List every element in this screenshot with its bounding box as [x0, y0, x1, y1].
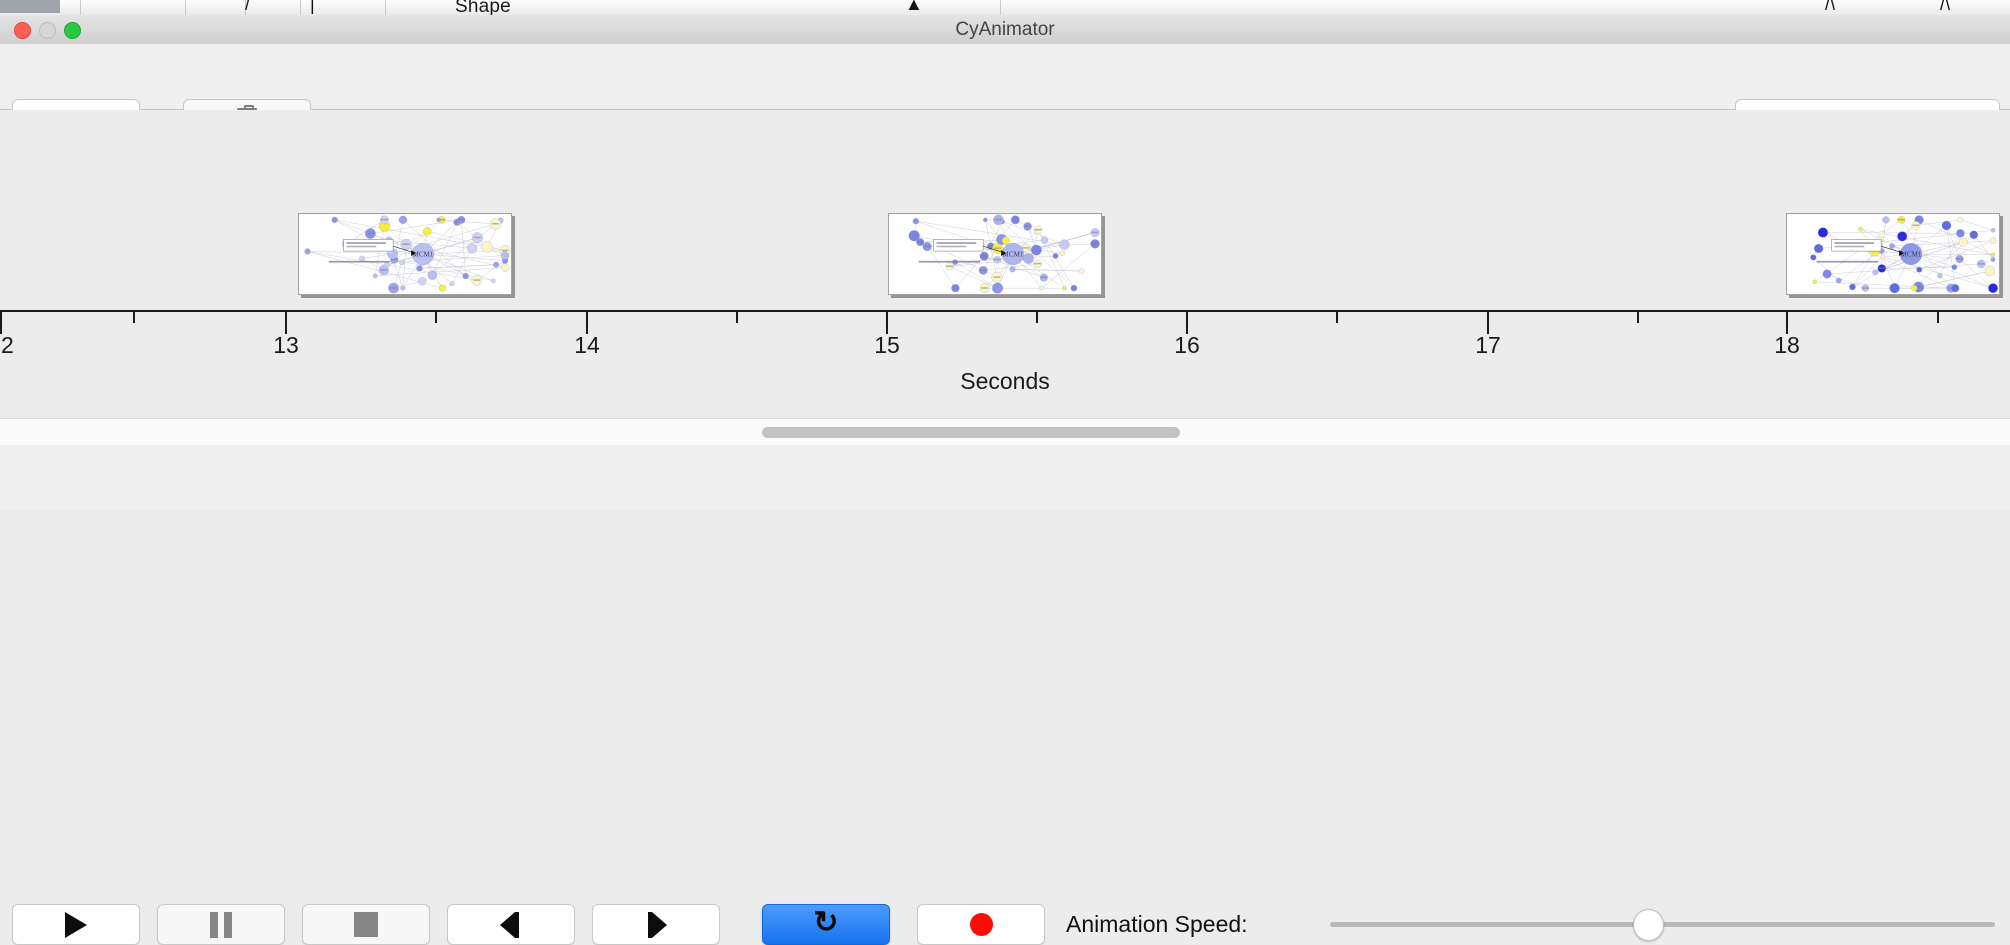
divider: [300, 0, 301, 15]
timeline-content: Seconds 12131415161718MCM1MCM1MCM1: [0, 110, 2010, 418]
title-bar: CyAnimator: [0, 15, 2010, 45]
timeline-axis-title: Seconds: [0, 368, 2010, 395]
timeline-frame-thumbnail[interactable]: MCM1: [1786, 213, 2000, 295]
record-button[interactable]: [917, 904, 1045, 945]
skip-to-start-icon: [498, 912, 524, 938]
playback-control-bar: ↻ Animation Speed:: [0, 445, 2010, 510]
axis-tick-15.5: [1036, 312, 1038, 323]
partial-glyph: /\: [1825, 0, 1835, 15]
axis-tick-12: [0, 312, 2, 334]
divider: [185, 0, 186, 15]
axis-tick-16: [1186, 312, 1188, 334]
axis-tick-label-13: 13: [273, 332, 299, 359]
axis-tick-label-17: 17: [1475, 332, 1501, 359]
skip-to-start-button[interactable]: [447, 904, 575, 945]
stop-button[interactable]: [302, 904, 430, 945]
axis-tick-18: [1786, 312, 1788, 334]
divider: [80, 0, 81, 15]
axis-tick-14.5: [736, 312, 738, 323]
svg-text:MCM1: MCM1: [413, 251, 434, 259]
timeline-frame-thumbnail[interactable]: MCM1: [298, 213, 512, 295]
axis-tick-label-15: 15: [874, 332, 900, 359]
axis-tick-12.5: [133, 312, 135, 323]
axis-tick-14: [586, 312, 588, 334]
play-button[interactable]: [12, 904, 140, 945]
partial-glyph: /: [245, 0, 250, 15]
partial-glyph: /\: [1940, 0, 1950, 15]
partial-glyph: ▲: [905, 0, 923, 15]
svg-text:MCM1: MCM1: [1901, 251, 1922, 259]
partial-glyph: |: [310, 0, 315, 15]
divider: [385, 0, 386, 15]
axis-tick-17: [1487, 312, 1489, 334]
axis-tick-label-16: 16: [1174, 332, 1200, 359]
axis-tick-13.5: [435, 312, 437, 323]
divider: [1000, 0, 1001, 15]
skip-to-end-button[interactable]: [592, 904, 720, 945]
axis-tick-16.5: [1336, 312, 1338, 323]
axis-tick-18.5: [1937, 312, 1939, 323]
timeline-scrollbar[interactable]: [0, 418, 2010, 447]
background-window-strip: / | ▲ Shape /\ /\: [0, 0, 2010, 16]
axis-tick-13: [285, 312, 287, 334]
stop-icon: [354, 912, 378, 937]
axis-tick-17.5: [1637, 312, 1639, 323]
skip-to-end-icon: [643, 912, 669, 938]
timeline-panel[interactable]: Seconds 12131415161718MCM1MCM1MCM1: [0, 110, 2010, 418]
toolbar: + Clear All Frames: [0, 44, 2010, 110]
axis-tick-15: [886, 312, 888, 334]
timeline-frame-thumbnail[interactable]: MCM1: [888, 213, 1102, 295]
pause-icon: [210, 912, 232, 938]
window-title: CyAnimator: [0, 15, 2010, 44]
loop-button[interactable]: ↻: [762, 904, 890, 945]
axis-tick-label-14: 14: [574, 332, 600, 359]
background-window-sidebar: [0, 0, 60, 13]
animation-speed-label: Animation Speed:: [1066, 904, 1248, 945]
timeline-axis-line: [0, 310, 2010, 312]
axis-tick-label-18: 18: [1774, 332, 1800, 359]
svg-text:MCM1: MCM1: [1003, 251, 1024, 259]
record-icon: [970, 913, 993, 936]
loop-icon: ↻: [813, 908, 838, 938]
background-window-label: Shape: [455, 0, 511, 16]
animation-speed-slider-thumb[interactable]: [1633, 909, 1664, 941]
cyanimator-window: / | ▲ Shape /\ /\ CyAnimator + Clear All…: [0, 0, 2010, 510]
play-icon: [65, 912, 87, 938]
axis-tick-label-12: 12: [0, 332, 14, 359]
pause-button[interactable]: [157, 904, 285, 945]
timeline-scrollbar-thumb[interactable]: [762, 427, 1180, 438]
